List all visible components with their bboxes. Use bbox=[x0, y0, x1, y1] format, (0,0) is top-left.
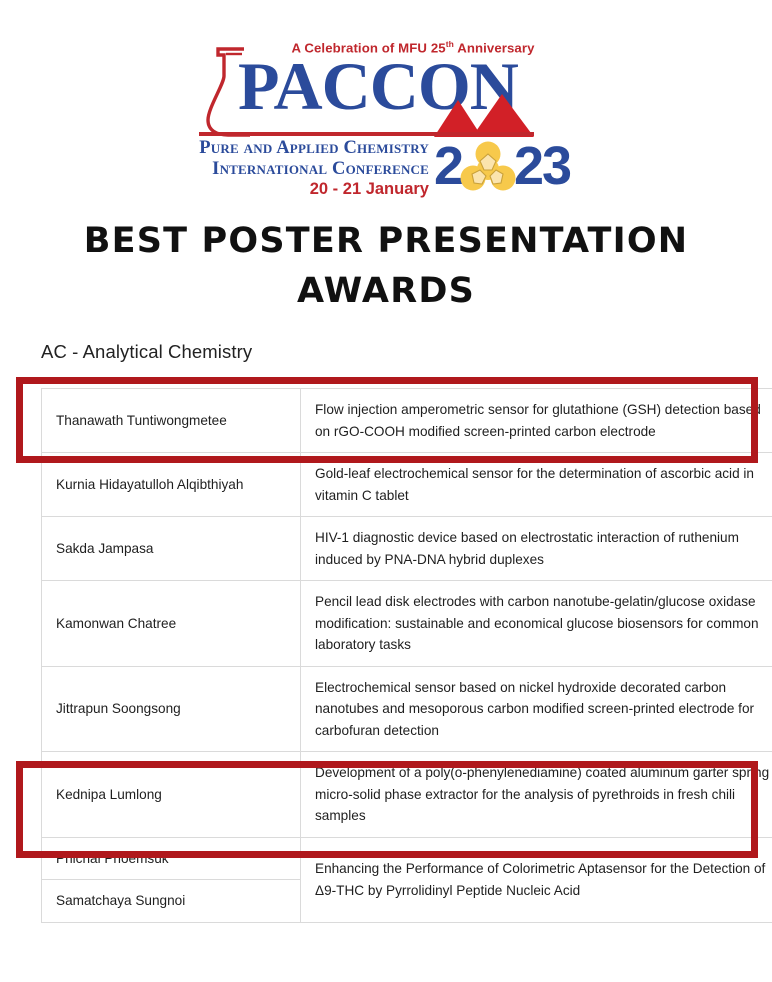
molecule-icon bbox=[460, 140, 516, 196]
logo-subtitle: Pure and Applied Chemistry International… bbox=[196, 138, 429, 180]
awardee-name: Kednipa Lumlong bbox=[42, 752, 301, 838]
logo-subtitle-line-1: Pure and Applied Chemistry bbox=[196, 138, 429, 159]
logo-divider-rule bbox=[199, 132, 534, 136]
awardee-name: Phichai Phoemsuk bbox=[42, 837, 301, 880]
table-row: Kamonwan Chatree Pencil lead disk electr… bbox=[42, 581, 772, 667]
awardee-name: Jittrapun Soongsong bbox=[42, 666, 301, 752]
page-title: BEST POSTER PRESENTATION AWARDS bbox=[40, 216, 732, 316]
poster-title: HIV-1 diagnostic device based on electro… bbox=[301, 517, 772, 581]
poster-title: Flow injection amperometric sensor for g… bbox=[301, 389, 772, 453]
section-heading: AC - Analytical Chemistry bbox=[41, 341, 252, 363]
table-row: Sakda Jampasa HIV-1 diagnostic device ba… bbox=[42, 517, 772, 581]
logo-dates: 20 - 21 January bbox=[196, 180, 429, 199]
logo-year-right-digits: 23 bbox=[514, 138, 570, 194]
conference-logo: A Celebration of MFU 25th Anniversary PA… bbox=[0, 30, 772, 195]
logo-subtitle-line-2: International Conference bbox=[196, 159, 429, 180]
table-row: Jittrapun Soongsong Electrochemical sens… bbox=[42, 666, 772, 752]
poster-title: Development of a poly(o-phenylenediamine… bbox=[301, 752, 772, 838]
awardee-name: Sakda Jampasa bbox=[42, 517, 301, 581]
poster-title: Gold-leaf electrochemical sensor for the… bbox=[301, 453, 772, 517]
poster-title-merged: Enhancing the Performance of Colorimetri… bbox=[301, 837, 772, 922]
mountain-icon bbox=[396, 92, 536, 137]
awards-table: Thanawath Tuntiwongmetee Flow injection … bbox=[41, 388, 772, 923]
awardee-name: Samatchaya Sungnoi bbox=[42, 880, 301, 923]
table-row: Thanawath Tuntiwongmetee Flow injection … bbox=[42, 389, 772, 453]
table-row: Kurnia Hidayatulloh Alqibthiyah Gold-lea… bbox=[42, 453, 772, 517]
poster-title: Electrochemical sensor based on nickel h… bbox=[301, 666, 772, 752]
awardee-name: Kamonwan Chatree bbox=[42, 581, 301, 667]
table-row: Kednipa Lumlong Development of a poly(o-… bbox=[42, 752, 772, 838]
awardee-name: Thanawath Tuntiwongmetee bbox=[42, 389, 301, 453]
logo-year-left-digit: 2 bbox=[434, 138, 462, 194]
awardee-name: Kurnia Hidayatulloh Alqibthiyah bbox=[42, 453, 301, 517]
logo-year: 2 23 bbox=[434, 138, 574, 196]
poster-title: Pencil lead disk electrodes with carbon … bbox=[301, 581, 772, 667]
table-row: Phichai Phoemsuk Enhancing the Performan… bbox=[42, 837, 772, 880]
